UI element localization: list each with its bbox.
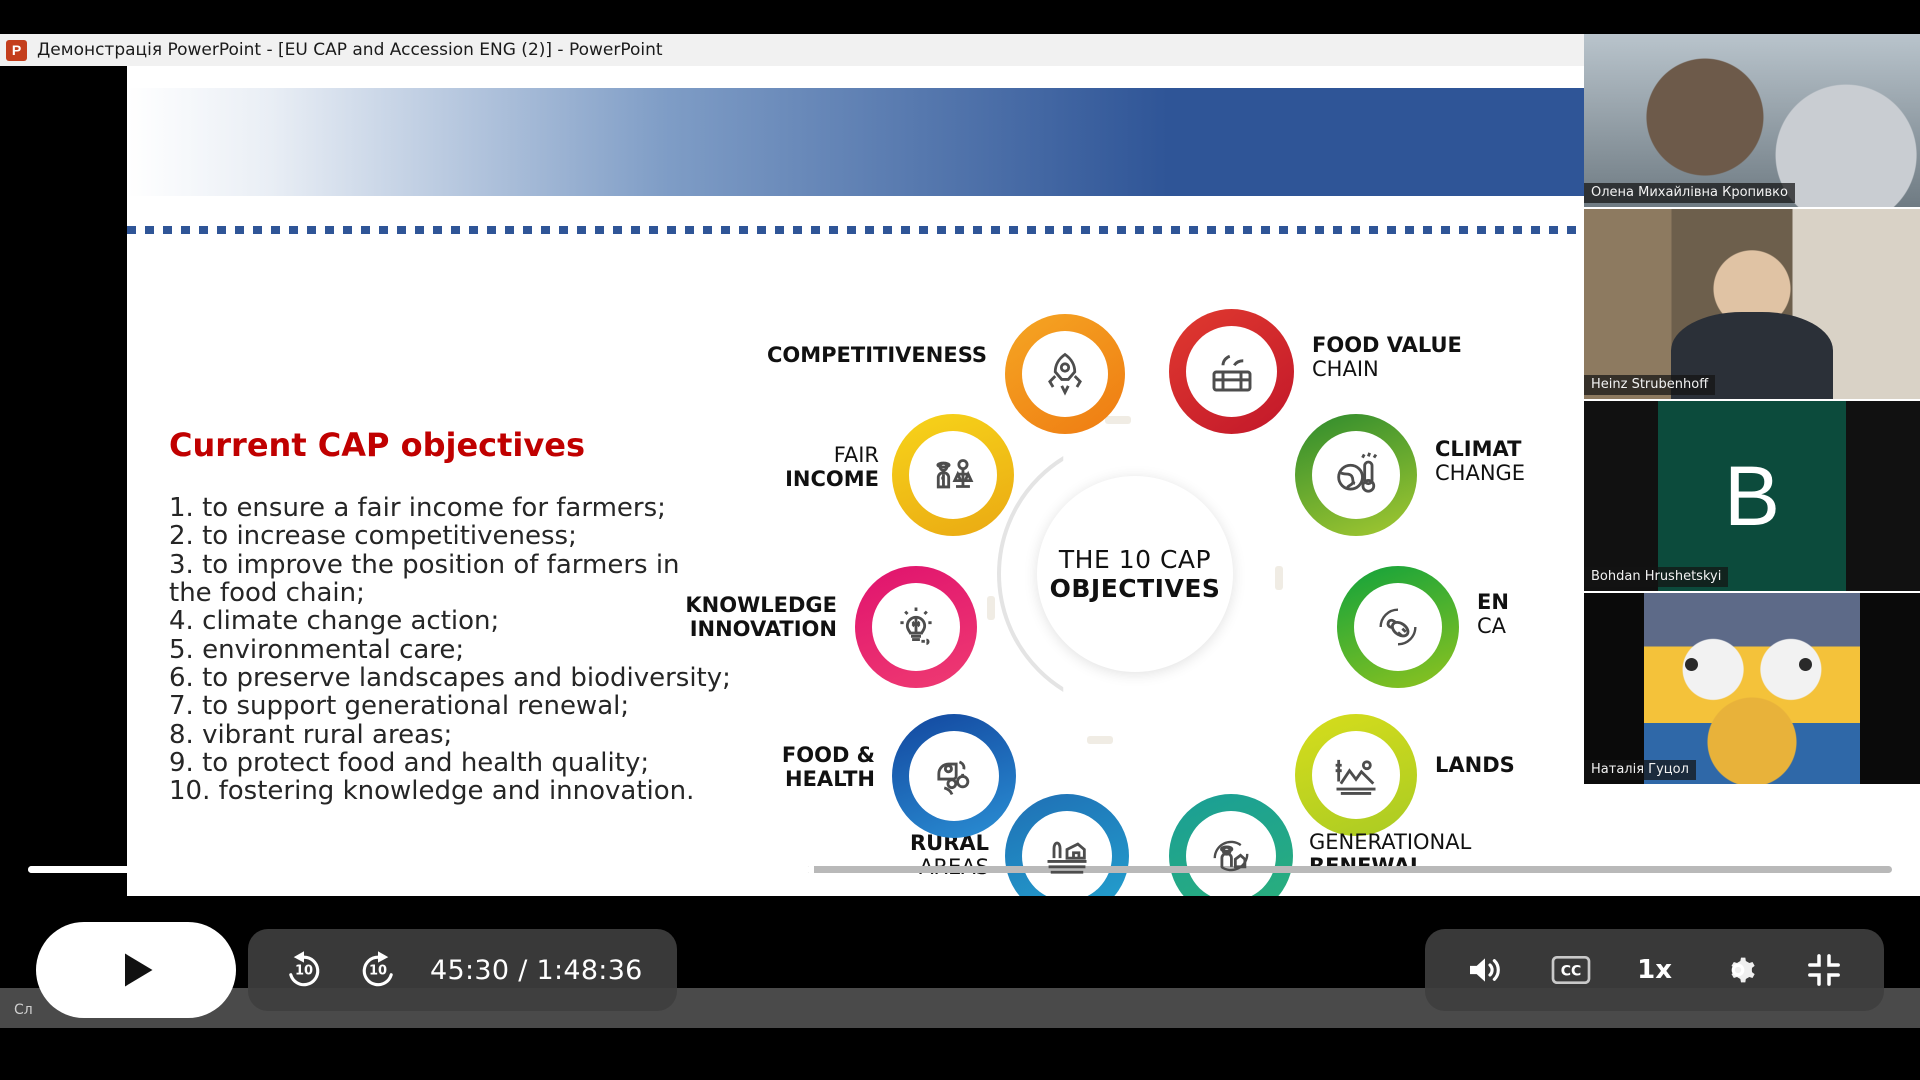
food-health-icon (928, 750, 980, 802)
node-food-value-chain (1169, 309, 1294, 434)
player-controls: 10 10 45:30 / 1:48:36 (0, 922, 1920, 1032)
exit-fullscreen-icon (1804, 950, 1844, 990)
node-food-health (892, 714, 1016, 838)
volume-icon (1465, 950, 1505, 990)
node-label-line-1: LANDS (1435, 753, 1515, 777)
rewind-10-button[interactable]: 10 (282, 948, 326, 992)
rewind-10-label: 10 (282, 963, 326, 978)
node-label-fair-income: FAIR INCOME (617, 444, 879, 492)
bee-icon (1372, 601, 1424, 653)
recorded-desktop: P Демонстрація PowerPoint - [EU CAP and … (0, 0, 1920, 1080)
forward-10-label: 10 (356, 963, 400, 978)
right-controls-group: CC 1x (1425, 929, 1884, 1011)
node-label-line-2: INNOVATION (690, 617, 837, 641)
node-label-line-1: FOOD & (782, 743, 875, 767)
play-icon (114, 947, 158, 993)
participant-name: Bohdan Hrushetskyi (1584, 567, 1728, 587)
exit-fullscreen-button[interactable] (1804, 950, 1844, 990)
play-button[interactable] (36, 922, 236, 1018)
objectives-list: 1. to ensure a fair income for farmers; … (169, 494, 689, 806)
playback-speed-button[interactable]: 1x (1637, 955, 1672, 985)
window-title: Демонстрація PowerPoint - [EU CAP and Ac… (37, 40, 663, 60)
farmhouse-icon (1041, 830, 1093, 882)
node-environmental-care (1337, 566, 1459, 688)
objective-item: 10. fostering knowledge and innovation. (169, 777, 689, 805)
hub-line-2: OBJECTIVES (1050, 574, 1221, 603)
node-label-line-2: CA (1477, 614, 1506, 638)
node-knowledge-innovation (855, 566, 977, 688)
avatar-eye (1799, 658, 1812, 671)
cc-icon: CC (1551, 953, 1591, 987)
progress-track[interactable] (28, 866, 1892, 873)
node-label-line-2: INCOME (785, 467, 879, 491)
participant-video-strip: Олена Михайлівна Кропивко Heinz Strubenh… (1584, 34, 1920, 784)
farmer-cycle-icon (1205, 830, 1257, 882)
captions-button[interactable]: CC (1551, 953, 1591, 987)
node-label-line-1: KNOWLEDGE (685, 593, 837, 617)
hub-deco-dot (987, 596, 995, 620)
objective-item: 2. to increase competitiveness; (169, 522, 689, 550)
timecode-display: 45:30 / 1:48:36 (430, 955, 643, 986)
hub-deco-dot (1105, 416, 1131, 424)
farmer-scales-icon (927, 449, 979, 501)
node-competitiveness (1005, 314, 1125, 434)
powerpoint-icon: P (6, 40, 27, 61)
progress-playhead[interactable] (809, 851, 814, 889)
participant-video-frame (1584, 34, 1920, 207)
objective-item: 1. to ensure a fair income for farmers; (169, 494, 689, 522)
objective-item: 8. vibrant rural areas; (169, 721, 689, 749)
participant-video-frame (1644, 593, 1859, 784)
settings-button[interactable] (1718, 950, 1758, 990)
gear-icon (1718, 950, 1758, 990)
screen-root: P Демонстрація PowerPoint - [EU CAP and … (0, 0, 1920, 1080)
participant-name: Олена Михайлівна Кропивко (1584, 183, 1795, 203)
participant-name: Наталія Гуцол (1584, 760, 1696, 780)
node-label-competitiveness: COMPETITIVENESS (707, 344, 987, 368)
progress-bar-area[interactable] (0, 842, 1920, 900)
node-label-line-1: COMPETITIVENESS (767, 343, 987, 367)
participant-name: Heinz Strubenhoff (1584, 375, 1715, 395)
rocket-icon (1039, 348, 1091, 400)
objective-item: 9. to protect food and health quality; (169, 749, 689, 777)
objective-item: 3. to improve the position of farmers in (169, 551, 689, 579)
node-climate-change (1295, 414, 1417, 536)
volume-button[interactable] (1465, 950, 1505, 990)
objective-item: 7. to support generational renewal; (169, 692, 689, 720)
objective-item: 6. to preserve landscapes and biodiversi… (169, 664, 689, 692)
node-label-food-health: FOOD & HEALTH (627, 744, 875, 792)
node-label-knowledge-innovation: KNOWLEDGE INNOVATION (577, 594, 837, 642)
node-label-line-1: CLIMAT (1435, 437, 1521, 461)
participant-tile[interactable]: Наталія Гуцол (1584, 591, 1920, 784)
node-label-food-value-chain: FOOD VALUE CHAIN (1312, 334, 1572, 382)
node-label-line-1: EN (1477, 590, 1509, 614)
node-fair-income (892, 414, 1014, 536)
wheel-hub: THE 10 CAP OBJECTIVES (1037, 476, 1233, 672)
progress-fill (28, 866, 811, 873)
hub-deco-dot (1275, 566, 1283, 590)
brain-bulb-icon (890, 601, 942, 653)
node-label-line-2: CHANGE (1435, 461, 1525, 485)
forward-10-button[interactable]: 10 (356, 948, 400, 992)
objectives-heading: Current CAP objectives (169, 426, 585, 464)
node-label-line-1: FAIR (834, 443, 879, 467)
seek-group: 10 10 45:30 / 1:48:36 (248, 929, 677, 1011)
node-landscapes (1295, 714, 1417, 836)
thermometer-globe-icon (1330, 449, 1382, 501)
crate-icon (1205, 345, 1259, 399)
hub-deco-dot (1087, 736, 1113, 744)
landscape-icon (1330, 749, 1382, 801)
participant-tile[interactable]: Олена Михайлівна Кропивко (1584, 34, 1920, 207)
participant-tile[interactable]: B Bohdan Hrushetskyi (1584, 399, 1920, 591)
node-label-line-1: FOOD VALUE (1312, 333, 1462, 357)
svg-text:CC: CC (1561, 963, 1582, 979)
node-label-line-2: HEALTH (785, 767, 875, 791)
node-label-line-2: CHAIN (1312, 357, 1379, 381)
avatar: B (1584, 401, 1920, 591)
hub-line-1: THE 10 CAP (1059, 545, 1211, 574)
participant-tile[interactable]: Heinz Strubenhoff (1584, 207, 1920, 399)
avatar-eye (1685, 658, 1698, 671)
